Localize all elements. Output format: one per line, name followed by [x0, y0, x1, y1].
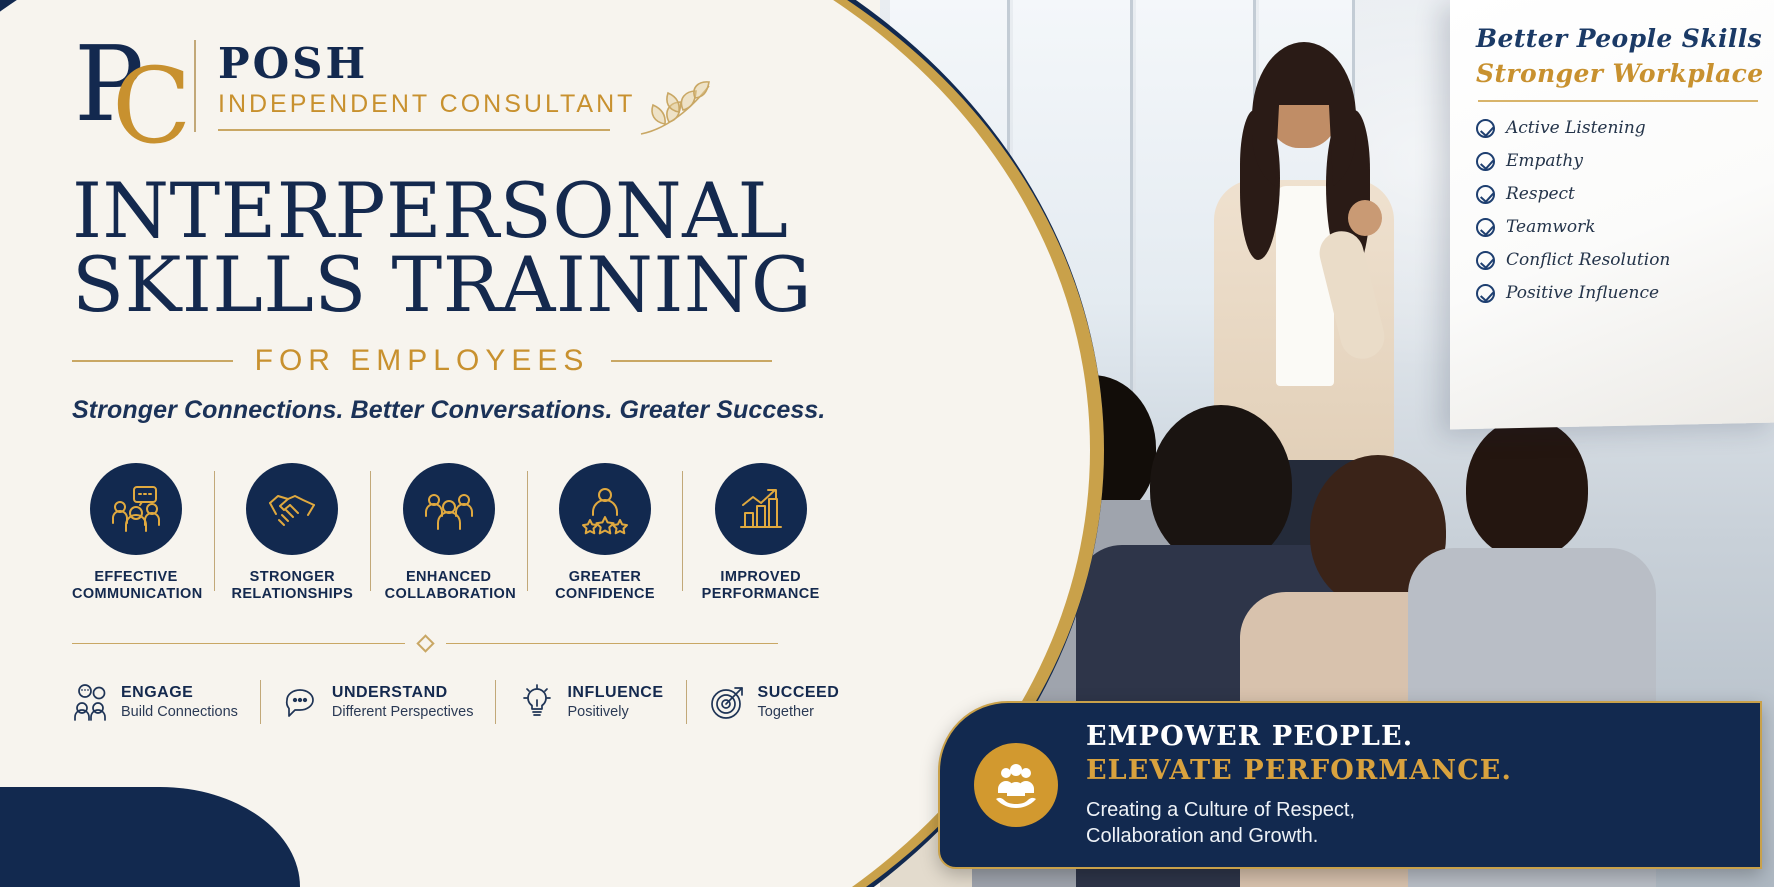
- badge-label-line1: STRONGER: [250, 569, 335, 585]
- empower-ribbon: EMPOWER PEOPLE. ELEVATE PERFORMANCE. Cre…: [938, 701, 1762, 869]
- mini-feature: ENGAGE Build Connections: [72, 683, 238, 721]
- whiteboard-item-label: Active Listening: [1506, 118, 1646, 138]
- mini-title: SUCCEED: [758, 684, 840, 702]
- diamond-icon: [416, 634, 434, 652]
- check-circle-icon: [1476, 251, 1495, 270]
- growth-chart-icon: [715, 463, 807, 555]
- badge-label: IMPROVED PERFORMANCE: [697, 569, 824, 603]
- audience-member: [1150, 405, 1292, 565]
- benefit-badge: EFFECTIVE COMMUNICATION: [72, 463, 200, 603]
- mini-separator: [686, 680, 687, 724]
- mini-subtitle: Different Perspectives: [332, 704, 474, 720]
- whiteboard-item-label: Respect: [1506, 184, 1575, 204]
- badge-separator: [370, 471, 371, 591]
- badge-label-line1: EFFECTIVE: [94, 569, 177, 585]
- audience-member: [1466, 418, 1588, 558]
- badge-label-line1: IMPROVED: [720, 569, 801, 585]
- left-content: P C POSH INDEPENDENT CONSULTANT: [0, 0, 880, 887]
- badge-label-line1: GREATER: [569, 569, 642, 585]
- whiteboard-item-label: Conflict Resolution: [1506, 250, 1670, 270]
- brand-divider: [194, 40, 196, 132]
- benefit-badge: IMPROVED PERFORMANCE: [697, 463, 824, 603]
- whiteboard-item-label: Teamwork: [1506, 217, 1596, 237]
- ribbon-body-line1: Creating a Culture of Respect,: [1086, 799, 1355, 821]
- mini-subtitle: Together: [758, 704, 840, 720]
- mini-feature: INFLUENCE Positively: [518, 683, 663, 721]
- lightbulb-icon: [518, 683, 556, 721]
- check-circle-icon: [1476, 218, 1495, 237]
- ribbon-text-block: EMPOWER PEOPLE. ELEVATE PERFORMANCE. Cre…: [1086, 721, 1512, 849]
- mini-separator: [495, 680, 496, 724]
- badge-label: ENHANCED COLLABORATION: [385, 569, 513, 603]
- divider-right: [446, 643, 779, 645]
- diamond-divider: [72, 637, 778, 650]
- two-people-icon: [72, 683, 110, 721]
- mini-feature: SUCCEED Together: [709, 683, 840, 721]
- mini-title: INFLUENCE: [567, 684, 663, 702]
- mini-title: UNDERSTAND: [332, 684, 474, 702]
- mini-feature: UNDERSTAND Different Perspectives: [283, 683, 474, 721]
- brand-text-block: POSH INDEPENDENT CONSULTANT: [218, 34, 635, 131]
- ribbon-body-line2: Collaboration and Growth.: [1086, 825, 1318, 847]
- badge-label-line2: COMMUNICATION: [72, 586, 203, 602]
- benefit-badge: STRONGER RELATIONSHIPS: [229, 463, 356, 603]
- benefit-badges: EFFECTIVE COMMUNICATION STRONGER RELA: [72, 463, 824, 603]
- whiteboard-item: Active Listening: [1476, 118, 1762, 138]
- brand-underline: [218, 129, 610, 131]
- badge-label-line2: CONFIDENCE: [555, 586, 655, 602]
- badge-separator: [682, 471, 683, 591]
- rule-left: [72, 360, 233, 362]
- whiteboard-item: Conflict Resolution: [1476, 250, 1762, 270]
- handshake-icon: [246, 463, 338, 555]
- flipchart-whiteboard: Better People Skills Stronger Workplace …: [1450, 0, 1774, 429]
- brand-lockup: P C POSH INDEPENDENT CONSULTANT: [72, 34, 824, 152]
- audience-rule: FOR EMPLOYEES: [72, 344, 772, 378]
- badge-label: STRONGER RELATIONSHIPS: [229, 569, 356, 603]
- divider-left: [72, 643, 405, 645]
- whiteboard-heading-2: Stronger Workplace: [1476, 59, 1762, 88]
- mini-features: ENGAGE Build Connections UNDERSTAND Diff…: [72, 680, 824, 724]
- poster-canvas: Better People Skills Stronger Workplace …: [0, 0, 1774, 887]
- ribbon-headline-1: EMPOWER PEOPLE.: [1086, 721, 1512, 752]
- monogram-letter-c: C: [112, 56, 192, 156]
- whiteboard-item-label: Empathy: [1506, 151, 1583, 171]
- badge-label: GREATER CONFIDENCE: [542, 569, 669, 603]
- badge-label: EFFECTIVE COMMUNICATION: [72, 569, 200, 603]
- audience-label: FOR EMPLOYEES: [255, 344, 590, 378]
- benefit-badge: GREATER CONFIDENCE: [542, 463, 669, 603]
- whiteboard-item-label: Positive Influence: [1506, 283, 1659, 303]
- speech-bubble-icon: [283, 683, 321, 721]
- monogram-logo: P C: [72, 34, 180, 144]
- whiteboard-item: Empathy: [1476, 151, 1762, 171]
- badge-label-line2: RELATIONSHIPS: [231, 586, 353, 602]
- badge-separator: [527, 471, 528, 591]
- mini-separator: [260, 680, 261, 724]
- whiteboard-rule: [1478, 100, 1758, 102]
- whiteboard-item: Positive Influence: [1476, 283, 1762, 303]
- rule-right: [611, 360, 772, 362]
- person-stars-icon: [559, 463, 651, 555]
- badge-separator: [214, 471, 215, 591]
- ribbon-headline-2: ELEVATE PERFORMANCE.: [1086, 755, 1512, 786]
- page-title: INTERPERSONAL SKILLS TRAINING: [72, 174, 824, 322]
- brand-name: POSH: [218, 42, 635, 86]
- headline-line-2: SKILLS TRAINING: [72, 248, 824, 322]
- people-group-icon: [403, 463, 495, 555]
- tagline: Stronger Connections. Better Conversatio…: [72, 396, 824, 425]
- whiteboard-item: Teamwork: [1476, 217, 1762, 237]
- laurel-sprig-icon: [639, 78, 715, 140]
- mini-title: ENGAGE: [121, 684, 238, 702]
- benefit-badge: ENHANCED COLLABORATION: [385, 463, 513, 603]
- badge-label-line2: COLLABORATION: [385, 586, 516, 602]
- mini-subtitle: Build Connections: [121, 704, 238, 720]
- people-care-icon: [974, 743, 1058, 827]
- mini-subtitle: Positively: [567, 704, 663, 720]
- ribbon-body: Creating a Culture of Respect, Collabora…: [1086, 797, 1512, 849]
- whiteboard-heading-1: Better People Skills: [1476, 24, 1762, 53]
- check-circle-icon: [1476, 119, 1495, 138]
- headline-line-1: INTERPERSONAL: [72, 174, 824, 248]
- check-circle-icon: [1476, 152, 1495, 171]
- target-arrow-icon: [709, 683, 747, 721]
- group-chat-icon: [90, 463, 182, 555]
- check-circle-icon: [1476, 185, 1495, 204]
- check-circle-icon: [1476, 284, 1495, 303]
- badge-label-line1: ENHANCED: [406, 569, 491, 585]
- badge-label-line2: PERFORMANCE: [702, 586, 820, 602]
- brand-subtitle: INDEPENDENT CONSULTANT: [218, 90, 635, 119]
- whiteboard-item: Respect: [1476, 184, 1762, 204]
